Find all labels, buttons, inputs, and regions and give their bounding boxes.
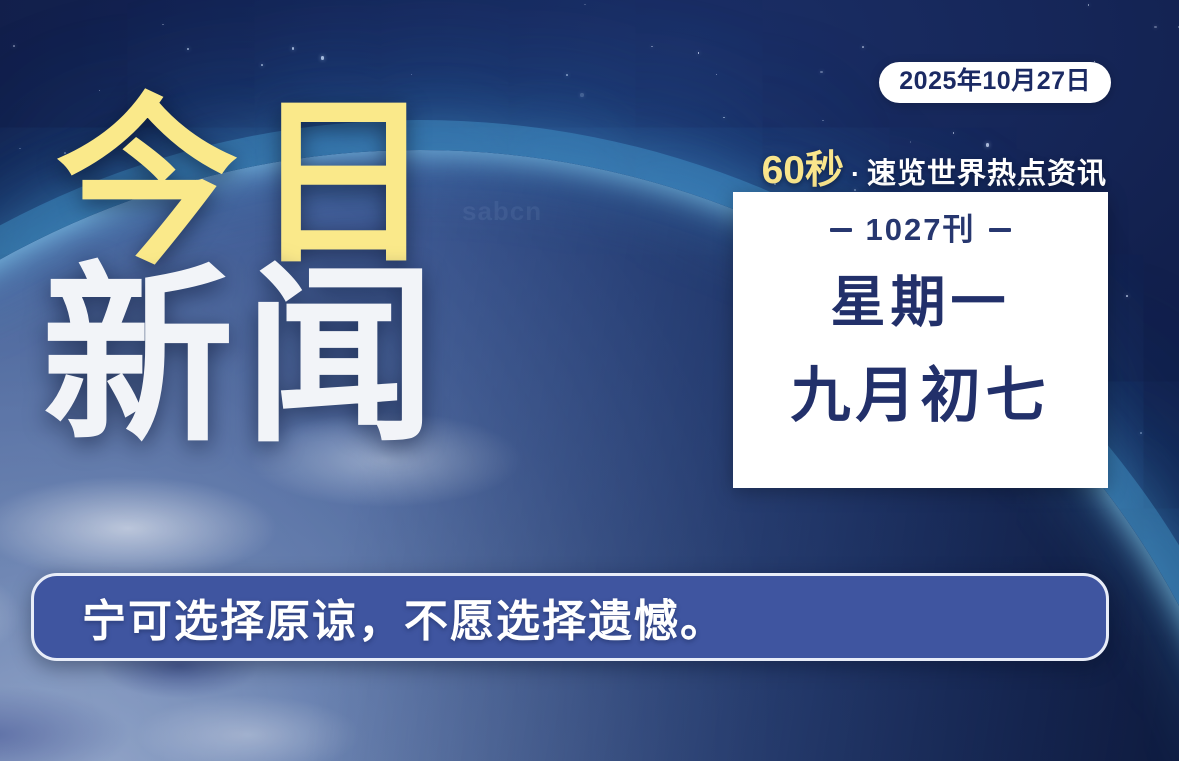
title-line-2: 新闻 [42,265,448,449]
page-title: 今日 新闻 [56,96,448,449]
dash-left-icon [830,228,852,232]
date-badge: 2025年10月27日 [879,62,1111,103]
tagline-separator: · [848,159,863,190]
quote-banner: 宁可选择原谅，不愿选择遗憾。 [31,573,1109,661]
dash-right-icon [989,228,1011,232]
watermark: sabcn [462,196,542,227]
date-info-card: 1027刊 星期一 九月初七 [733,192,1108,488]
issue-number-row: 1027刊 [830,214,1012,245]
quote-text: 宁可选择原谅，不愿选择遗憾。 [82,585,726,649]
news-poster: sabcn 2025年10月27日 60秒 · 速览世界热点资讯 1027刊 星… [0,0,1179,761]
tagline-text: 速览世界热点资讯 [867,150,1107,192]
lunar-date-label: 九月初七 [791,366,1051,426]
tagline-seconds: 60秒 [762,139,844,195]
title-line-1: 今日 [56,96,448,271]
issue-number: 1027刊 [866,214,976,245]
weekday-label: 星期一 [830,275,1010,330]
tagline: 60秒 · 速览世界热点资讯 [762,139,1107,195]
